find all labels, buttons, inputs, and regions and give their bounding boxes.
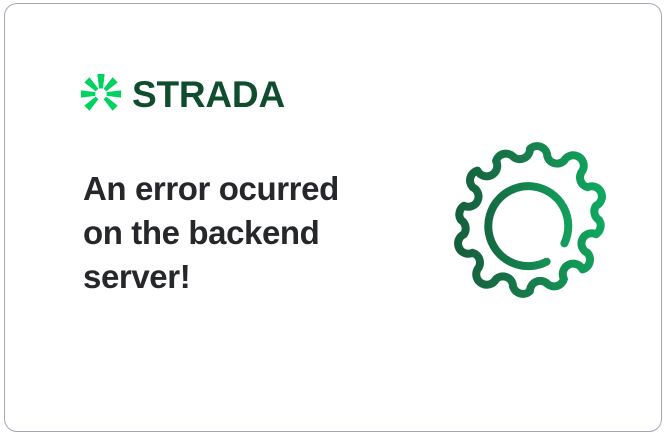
gear-error-icon <box>448 136 612 304</box>
strada-asterisk-icon <box>79 72 123 116</box>
brand-wordmark: STRADA <box>132 76 285 113</box>
error-headline: An error ocurred on the backend server! <box>83 167 383 299</box>
brand-lockup: STRADA <box>79 72 285 116</box>
error-page: STRADA An error ocurred on the backend s… <box>0 0 666 436</box>
error-card: STRADA An error ocurred on the backend s… <box>4 3 662 432</box>
